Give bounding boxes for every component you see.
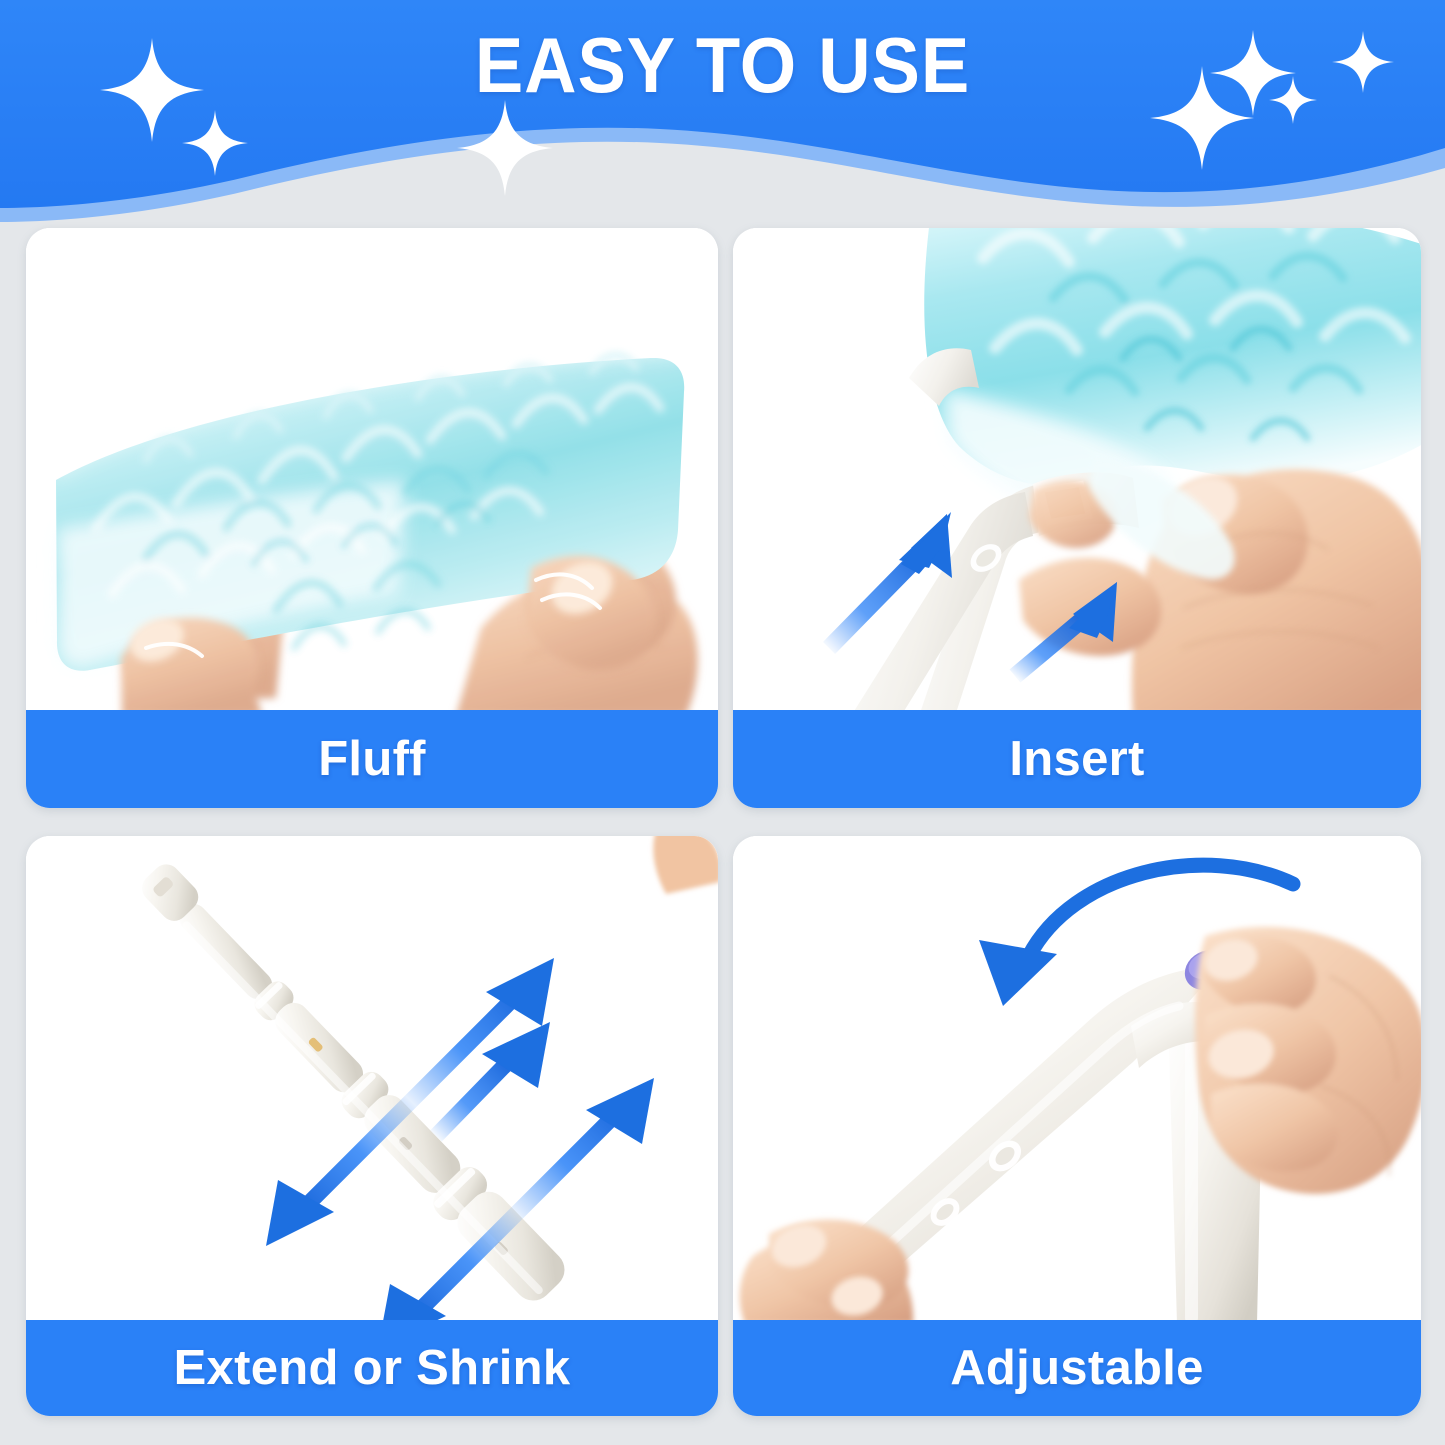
steps-grid: Fluff	[0, 0, 1445, 1445]
step-photo-insert	[733, 228, 1421, 716]
four-point-sparkle-icon	[457, 100, 553, 196]
step-label-insert: Insert	[1009, 731, 1144, 787]
step-label-bar-insert: Insert	[733, 710, 1421, 808]
step-label-adjustable: Adjustable	[950, 1340, 1203, 1396]
step-photo-extend-or-shrink	[26, 836, 718, 1324]
step-label-bar-adjustable: Adjustable	[733, 1320, 1421, 1416]
page-title: EASY TO USE	[51, 26, 1395, 104]
step-label-fluff: Fluff	[318, 731, 426, 787]
four-point-sparkle-icon	[182, 110, 248, 176]
step-card-insert[interactable]: Insert	[733, 228, 1421, 808]
step-label-bar-fluff: Fluff	[26, 710, 718, 808]
step-photo-fluff	[26, 228, 718, 716]
step-card-fluff[interactable]: Fluff	[26, 228, 718, 808]
step-label-extend-or-shrink: Extend or Shrink	[174, 1340, 571, 1396]
step-photo-adjustable	[733, 836, 1421, 1324]
step-label-bar-extend-or-shrink: Extend or Shrink	[26, 1320, 718, 1416]
step-card-extend-or-shrink[interactable]: Extend or Shrink	[26, 836, 718, 1416]
step-card-adjustable[interactable]: Adjustable	[733, 836, 1421, 1416]
